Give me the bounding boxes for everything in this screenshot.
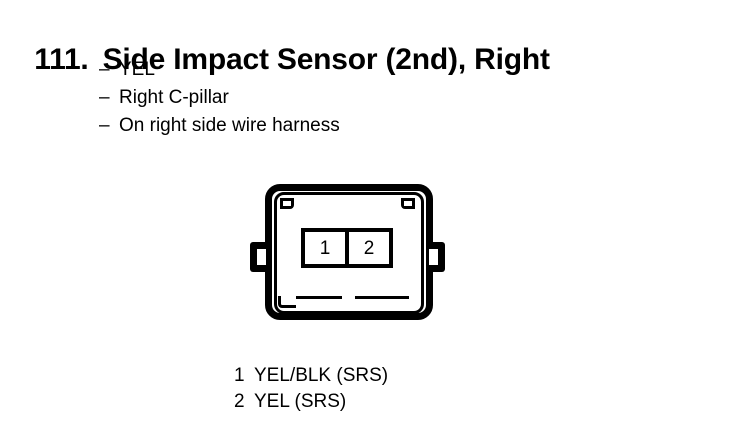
description-list: – YEL – Right C-pillar – On right side w…	[99, 56, 340, 140]
pin-legend-row: 2 YEL (SRS)	[234, 389, 388, 415]
connector-notch-top-left-cut	[283, 201, 291, 206]
connector-tab-left-cut	[257, 249, 266, 265]
connector-diagram: 1 2	[249, 184, 445, 324]
description-item-label: On right side wire harness	[119, 112, 340, 140]
page-title-number: 111.	[34, 43, 88, 76]
pin-wire-label: YEL/BLK (SRS)	[254, 363, 388, 389]
connector-cavity-block: 1 2	[301, 228, 393, 268]
connector-tab-right-cut	[429, 249, 438, 265]
pin-wire-label: YEL (SRS)	[254, 389, 346, 415]
pin-legend-row: 1 YEL/BLK (SRS)	[234, 363, 388, 389]
description-item: – On right side wire harness	[99, 112, 340, 140]
description-item: – YEL	[99, 56, 340, 84]
description-item: – Right C-pillar	[99, 84, 340, 112]
pin-number: 2	[234, 389, 254, 415]
dash-marker: –	[99, 84, 119, 112]
dash-marker: –	[99, 56, 119, 84]
dash-marker: –	[99, 112, 119, 140]
connector-skirt-step	[278, 296, 296, 308]
description-item-label: Right C-pillar	[119, 84, 229, 112]
description-item-label: YEL	[119, 56, 155, 84]
pin-legend: 1 YEL/BLK (SRS) 2 YEL (SRS)	[234, 363, 388, 415]
cavity-2: 2	[349, 232, 389, 264]
connector-skirt-center-gap	[342, 294, 355, 300]
connector-notch-top-right-cut	[404, 201, 412, 206]
pin-number: 1	[234, 363, 254, 389]
cavity-1: 1	[305, 232, 345, 264]
